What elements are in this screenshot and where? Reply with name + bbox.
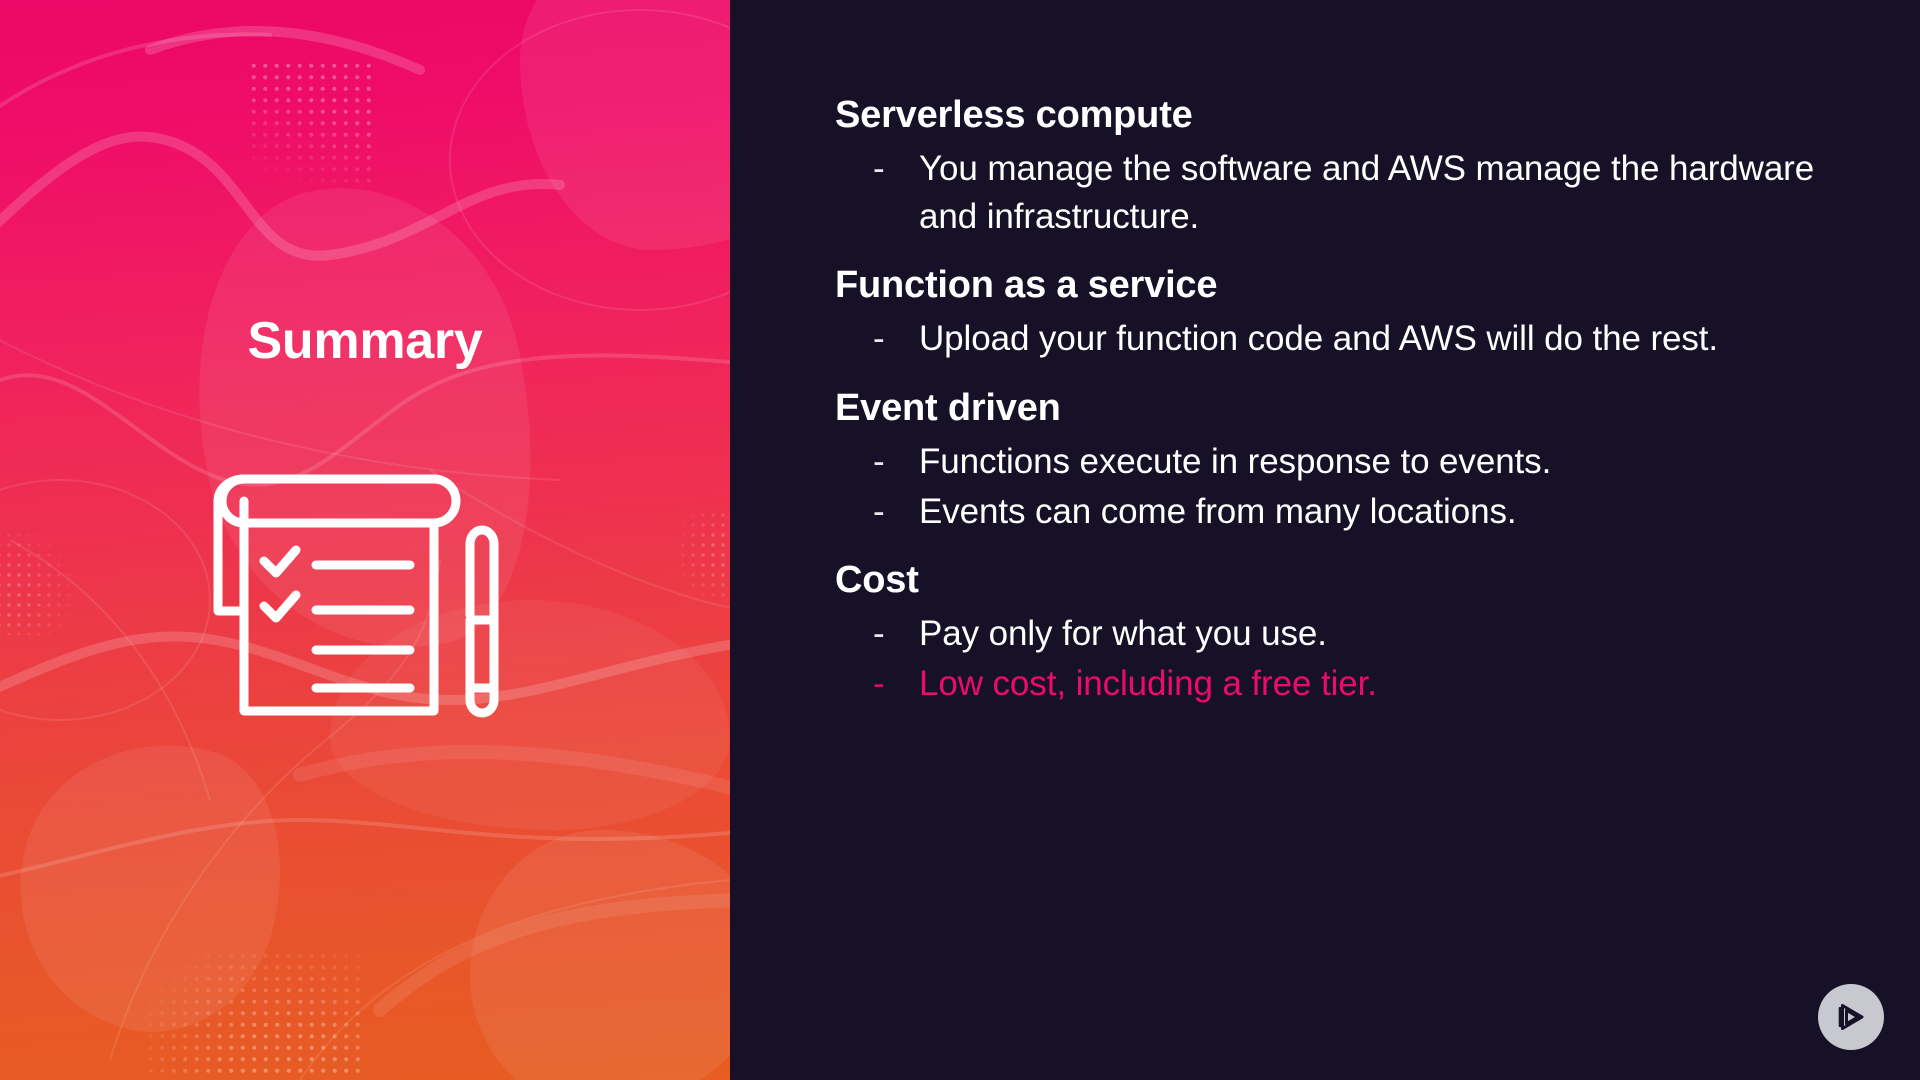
bullet-text: Functions execute in response to events. <box>919 438 1845 486</box>
group-heading: Function as a service <box>835 262 1845 309</box>
bullet-item: -Low cost, including a free tier. <box>835 660 1845 708</box>
summary-group: Function as a service-Upload your functi… <box>835 262 1845 363</box>
bullet-dash-marker: - <box>873 488 919 536</box>
right-content-panel: Serverless compute-You manage the softwa… <box>730 0 1920 1080</box>
bullet-item: -Functions execute in response to events… <box>835 438 1845 486</box>
group-heading: Serverless compute <box>835 92 1845 139</box>
presentation-slide: Summary <box>0 0 1920 1080</box>
summary-group: Serverless compute-You manage the softwa… <box>835 92 1845 240</box>
left-decorative-panel: Summary <box>0 0 730 1080</box>
bullet-dash-marker: - <box>873 660 919 708</box>
bullet-item: -Pay only for what you use. <box>835 610 1845 658</box>
bullet-item: -Events can come from many locations. <box>835 488 1845 536</box>
bullet-dash-marker: - <box>873 610 919 658</box>
group-heading: Event driven <box>835 385 1845 432</box>
bullet-dash-marker: - <box>873 145 919 193</box>
page-title: Summary <box>0 315 730 367</box>
bullet-dash-marker: - <box>873 438 919 486</box>
bullet-item: -You manage the software and AWS manage … <box>835 145 1845 240</box>
play-mark-icon <box>1831 997 1871 1037</box>
pluralsight-logo[interactable] <box>1818 984 1884 1050</box>
checklist-scroll-and-pen-icon <box>198 448 518 738</box>
bullet-item: -Upload your function code and AWS will … <box>835 315 1845 363</box>
bullet-text: Pay only for what you use. <box>919 610 1845 658</box>
bullet-text: Events can come from many locations. <box>919 488 1845 536</box>
left-panel-content: Summary <box>0 0 730 1080</box>
bullet-text: You manage the software and AWS manage t… <box>919 145 1845 240</box>
summary-group: Event driven-Functions execute in respon… <box>835 385 1845 535</box>
bullet-dash-marker: - <box>873 315 919 363</box>
bullet-text: Low cost, including a free tier. <box>919 660 1845 708</box>
bullet-text: Upload your function code and AWS will d… <box>919 315 1845 363</box>
group-heading: Cost <box>835 557 1845 604</box>
summary-bullet-list: Serverless compute-You manage the softwa… <box>835 92 1845 710</box>
summary-group: Cost-Pay only for what you use.-Low cost… <box>835 557 1845 707</box>
